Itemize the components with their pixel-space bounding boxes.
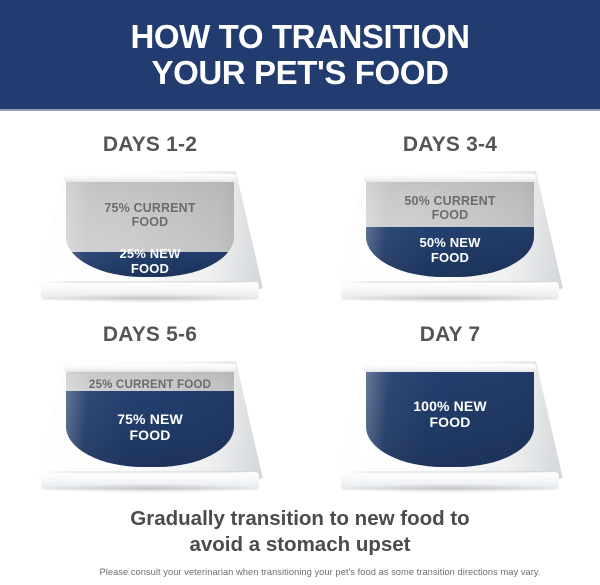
current-food-fill xyxy=(366,176,534,227)
footer-headline: Gradually transition to new food to avoi… xyxy=(0,506,600,558)
food-bowl-days-3-4: 50% CURRENT FOOD 50% NEW FOOD xyxy=(337,167,563,303)
new-food-fill xyxy=(366,366,534,467)
bowl-interior xyxy=(366,366,534,467)
footer-disclaimer: Please consult your veterinarian when tr… xyxy=(0,567,600,577)
page-title: HOW TO TRANSITION YOUR PET'S FOOD xyxy=(120,19,479,90)
step-title: DAY 7 xyxy=(420,323,481,347)
bowl-rim xyxy=(364,364,536,372)
bowl-interior xyxy=(66,176,234,277)
step-card-days-1-2: DAYS 1-2 75% CURRENT FOOD 25% NEW FOOD xyxy=(0,120,300,310)
new-food-fill xyxy=(366,227,534,278)
step-card-day-7: DAY 7 100% NEW FOOD xyxy=(300,310,600,500)
bowl-shadow xyxy=(345,294,555,303)
food-bowl-day-7: 100% NEW FOOD xyxy=(337,357,563,493)
footer-headline-line-1: Gradually transition to new food to xyxy=(40,506,560,532)
bowl-shadow xyxy=(45,484,255,493)
bowl-shadow xyxy=(45,294,255,303)
bowl-interior xyxy=(366,176,534,277)
food-bowl-days-5-6: 25% CURRENT FOOD 75% NEW FOOD xyxy=(37,357,263,493)
bowl-interior xyxy=(66,366,234,467)
page-title-line-1: HOW TO TRANSITION xyxy=(130,19,469,55)
bowl-shadow xyxy=(345,484,555,493)
bowl-rim xyxy=(364,174,536,182)
transition-steps-grid: DAYS 1-2 75% CURRENT FOOD 25% NEW FOOD xyxy=(0,120,600,505)
bowl-base-seam xyxy=(343,281,557,283)
new-food-fill xyxy=(66,391,234,467)
footer: Gradually transition to new food to avoi… xyxy=(0,506,600,558)
bowl-rim xyxy=(64,174,236,182)
bowl-base-seam xyxy=(43,281,257,283)
new-food-fill xyxy=(66,252,234,277)
step-title: DAYS 1-2 xyxy=(103,133,197,157)
bowl-rim xyxy=(64,364,236,372)
header-divider xyxy=(0,109,600,111)
step-title: DAYS 3-4 xyxy=(403,133,497,157)
footer-headline-line-2: avoid a stomach upset xyxy=(40,532,560,558)
step-title: DAYS 5-6 xyxy=(103,323,197,347)
page-title-line-2: YOUR PET'S FOOD xyxy=(130,55,469,91)
step-card-days-5-6: DAYS 5-6 25% CURRENT FOOD 75% NEW FOOD xyxy=(0,310,300,500)
food-bowl-days-1-2: 75% CURRENT FOOD 25% NEW FOOD xyxy=(37,167,263,303)
header-banner: HOW TO TRANSITION YOUR PET'S FOOD xyxy=(0,0,600,109)
bowl-base-seam xyxy=(43,471,257,473)
current-food-fill xyxy=(66,176,234,252)
bowl-base-seam xyxy=(343,471,557,473)
step-card-days-3-4: DAYS 3-4 50% CURRENT FOOD 50% NEW FOOD xyxy=(300,120,600,310)
